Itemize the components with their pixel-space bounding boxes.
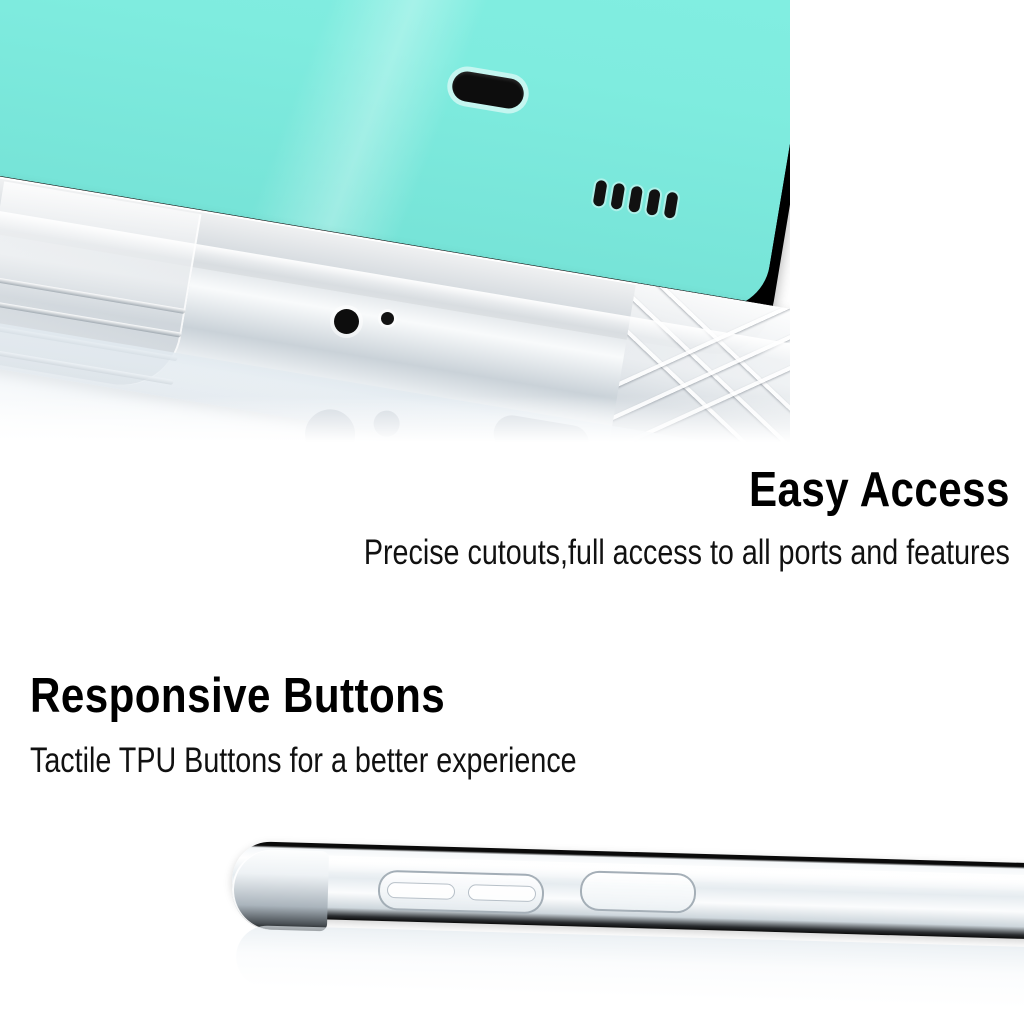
feature-subheading-responsive-buttons: Tactile TPU Buttons for a better experie… xyxy=(30,743,577,778)
photo-side-profile xyxy=(0,824,1024,1024)
feature-block-responsive-buttons: Responsive Buttons Tactile TPU Buttons f… xyxy=(30,672,697,778)
case-rounded-corner-tip xyxy=(231,849,329,932)
microphone-hole-icon xyxy=(334,309,359,334)
power-button xyxy=(579,870,696,913)
volume-rocker-button xyxy=(377,870,544,915)
fade-to-white-top xyxy=(0,396,790,460)
feature-heading-easy-access: Easy Access xyxy=(332,466,1010,515)
photo-bottom-edge-closeup xyxy=(0,0,790,460)
surface-reflection-bottom xyxy=(235,925,1024,1009)
feature-subheading-easy-access: Precise cutouts,full access to all ports… xyxy=(364,535,1010,570)
product-image-canvas: Easy Access Precise cutouts,full access … xyxy=(0,0,1024,1024)
feature-heading-responsive-buttons: Responsive Buttons xyxy=(30,672,603,721)
feature-block-easy-access: Easy Access Precise cutouts,full access … xyxy=(222,466,1010,570)
secondary-microphone-hole-icon xyxy=(381,312,394,325)
